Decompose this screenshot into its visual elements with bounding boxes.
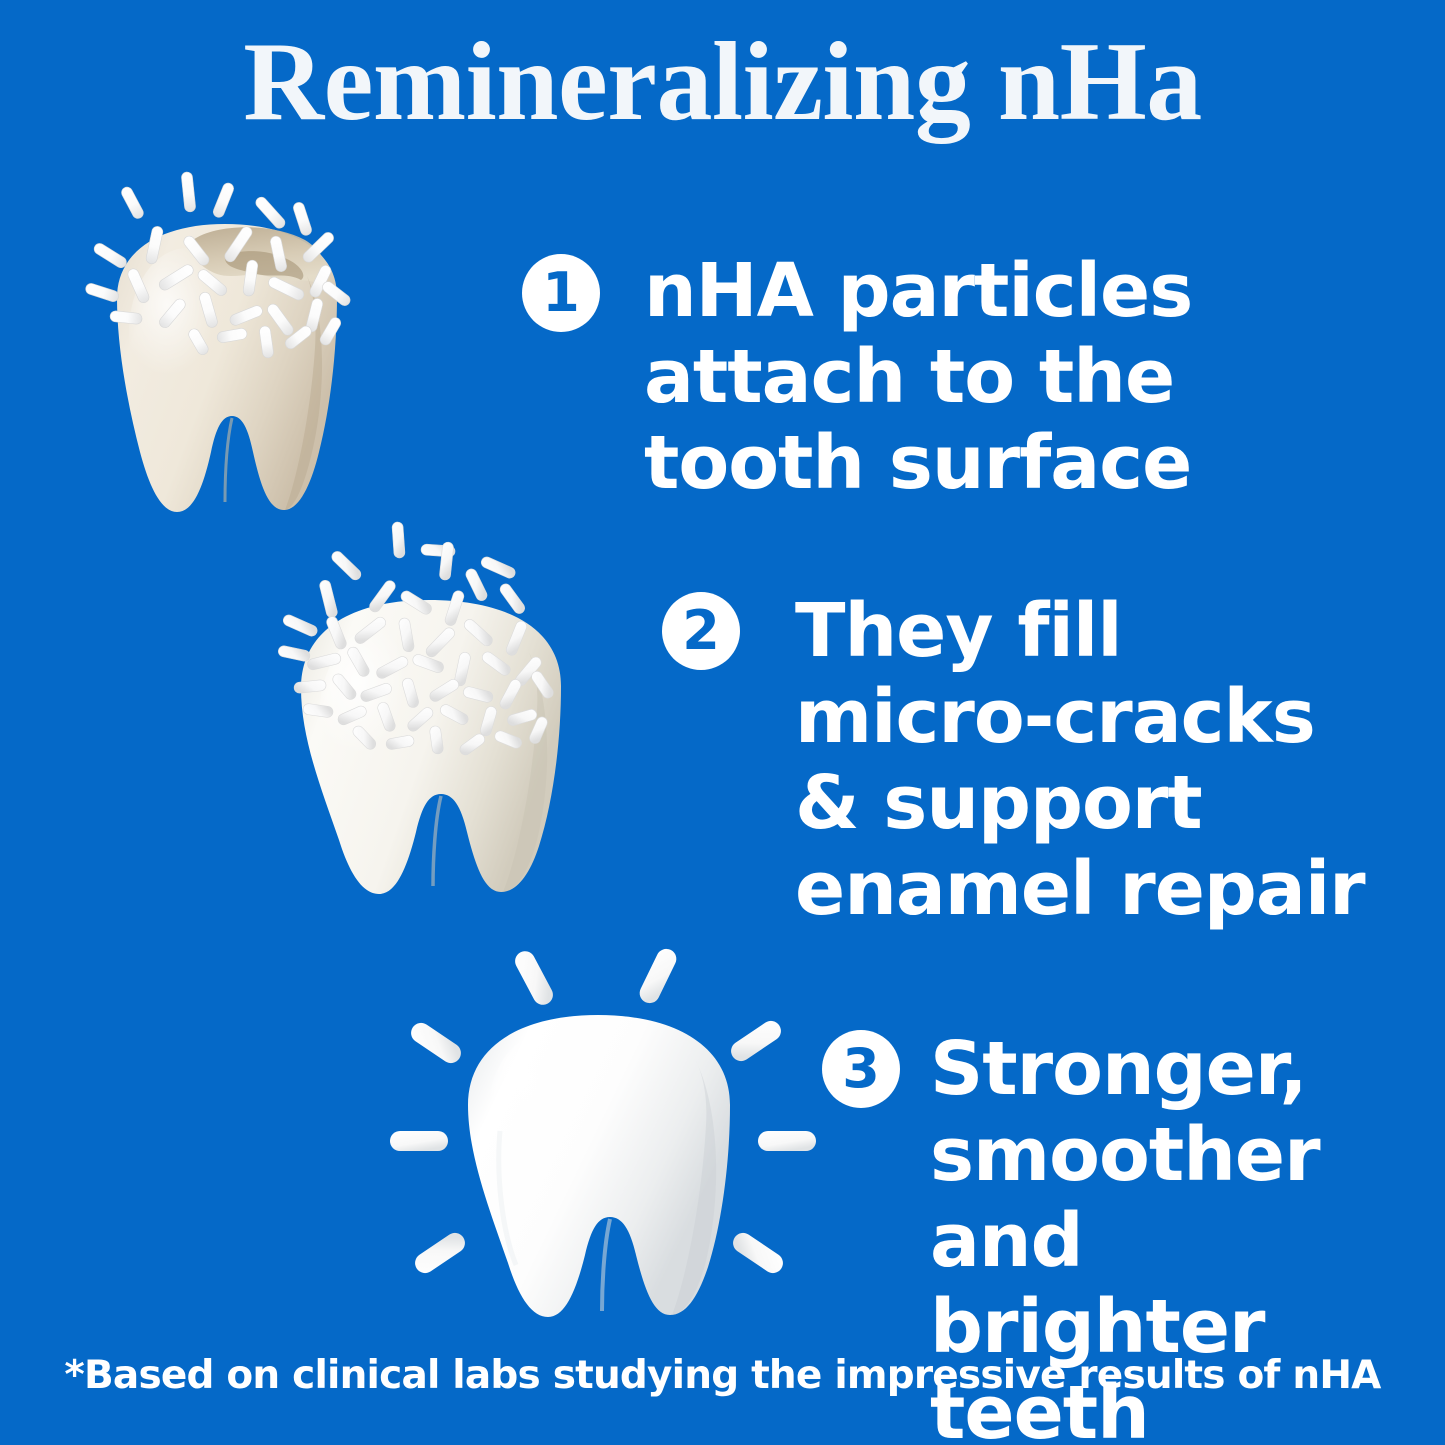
tooth-body-decayed (117, 224, 337, 512)
step-2-number-badge: 2 (662, 592, 740, 670)
infographic-canvas: Remineralizing nHa (0, 0, 1445, 1445)
step-2-illustration-tooth-with-particles (265, 520, 615, 910)
step-3-illustration-bright-tooth (380, 935, 820, 1330)
tooth-body-bright (468, 1015, 730, 1317)
step-1-number-badge: 1 (522, 254, 600, 332)
footnote-disclaimer: *Based on clinical labs studying the imp… (0, 1352, 1445, 1400)
step-1-illustration-decayed-tooth (75, 180, 395, 545)
step-3-number-badge: 3 (822, 1030, 900, 1108)
page-title: Remineralizing nHa (0, 26, 1445, 138)
step-2-text: They fill micro-cracks & support enamel … (795, 588, 1365, 932)
step-1-text: nHA particles attach to the tooth surfac… (644, 248, 1192, 506)
